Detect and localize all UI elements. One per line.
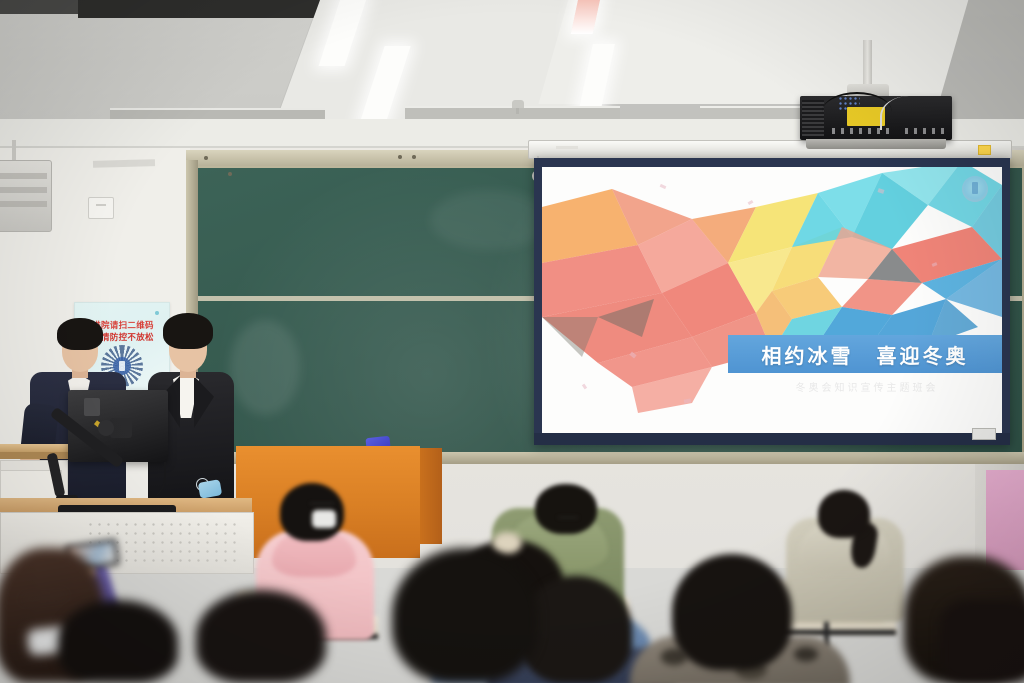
ceiling-dark-recess-left (0, 0, 78, 14)
orange-wood-panel-edge (420, 448, 442, 544)
presenter-standing-hair (163, 313, 213, 349)
foreground-head-5 (196, 590, 326, 683)
slide-subtitle: 冬奥会知识宣传主题班会 (752, 379, 982, 394)
screen-housing-marking (556, 146, 578, 149)
blackboard-screw (398, 155, 402, 159)
classroom-presentation-photo: 相约冰雪 喜迎冬奥 冬奥会知识宣传主题班会 进院请扫二维码 疫情防控不放松 (0, 0, 1024, 683)
right-side-panel (986, 470, 1024, 570)
chalkboard-smudge-1 (230, 320, 300, 415)
foreground-head-6 (58, 600, 178, 683)
projection-screen: 相约冰雪 喜迎冬奥 冬奥会知识宣传主题班会 (542, 167, 1002, 435)
chalkboard-smudge-2 (430, 190, 550, 250)
student-pink-face-mask (312, 510, 336, 528)
slide-title: 相约冰雪 喜迎冬奥 (728, 335, 1002, 373)
poster-decor-dot (155, 311, 159, 315)
smoke-detector-stem (516, 107, 519, 114)
projector-mount-rod (863, 40, 872, 90)
screen-housing-sticker (978, 145, 991, 155)
student-ponytail-hair (818, 490, 870, 538)
blackboard-screw (204, 156, 208, 160)
slide-university-logo-icon (962, 176, 988, 202)
foreground-head-1 (392, 548, 538, 683)
student-olive-glasses-icon (558, 517, 578, 523)
presenter-seated-hair (57, 318, 103, 350)
blackboard-screw (228, 172, 232, 176)
slide-lowpoly-artwork (542, 167, 1002, 435)
projector-base-plate (806, 139, 946, 149)
foreground-head-3 (672, 554, 792, 670)
student-olive-hair (535, 484, 597, 534)
smoke-detector-icon (512, 100, 524, 108)
screen-corner-tag (972, 428, 996, 440)
ceiling-ledge-3 (700, 106, 810, 120)
blackboard-screw (412, 155, 416, 159)
wall-air-conditioner-icon (0, 160, 52, 232)
slide-title-banner: 相约冰雪 喜迎冬奥 (728, 335, 1002, 373)
monitor-arm-joint[interactable] (98, 420, 114, 436)
projector-vent-grille (802, 100, 824, 136)
foreground-hair-lower (940, 600, 1024, 683)
monitor-vent (84, 398, 100, 416)
screen-bottom-weight-bar (534, 433, 1010, 445)
student-pink-glasses-icon (310, 503, 334, 509)
light-switch-plate[interactable] (88, 197, 114, 219)
hair-bun-scrunchie (492, 532, 522, 554)
